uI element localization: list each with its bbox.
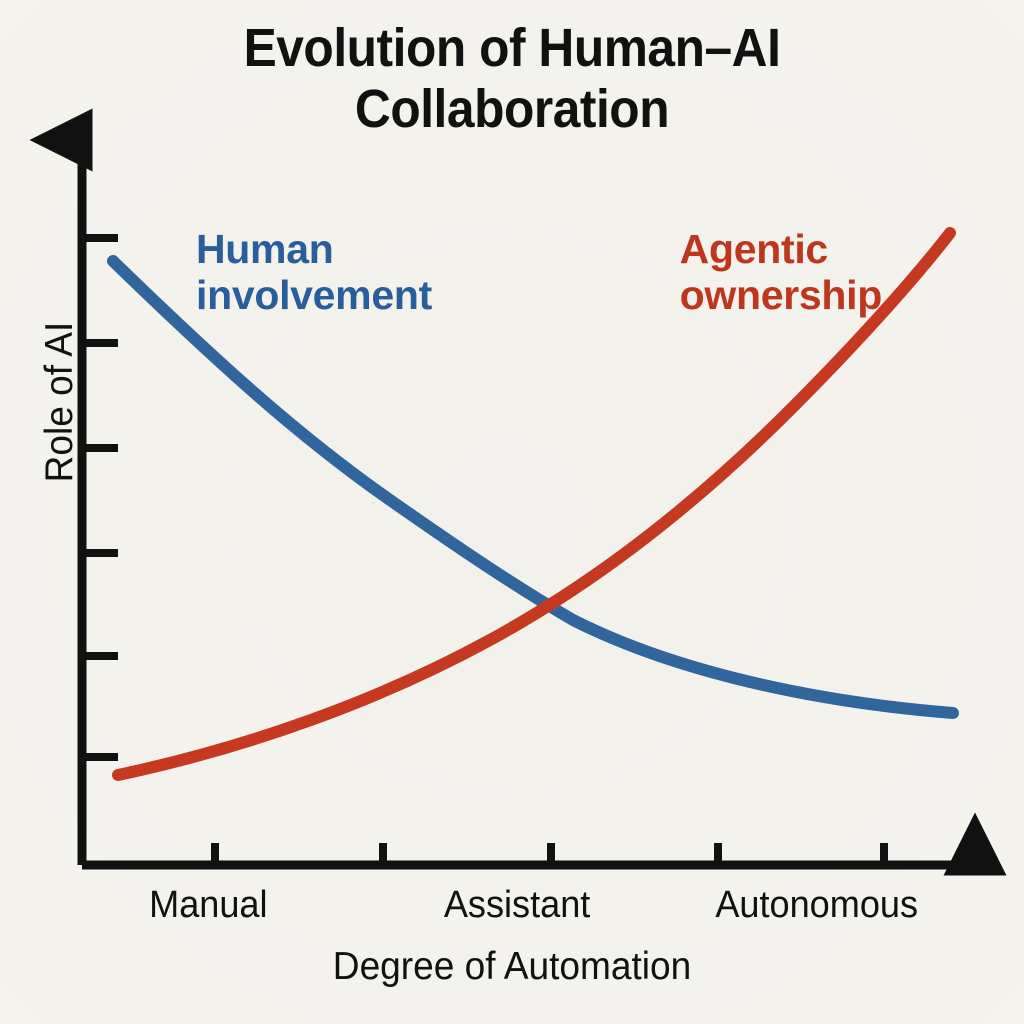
x-tick-label-manual: Manual [149,884,267,927]
x-tick-label-assistant: Assistant [444,884,590,927]
x-axis-label: Degree of Automation [26,945,999,989]
y-axis-ticks [82,238,118,757]
title-block: Evolution of Human–AI Collaboration [112,18,912,140]
series-label-human-involvement: Human involvement [196,227,432,319]
y-axis-label: Role of AI [38,288,82,516]
chart-figure: Evolution of Human–AI Collaboration Huma… [0,0,1024,1024]
series-line-human-involvement [113,261,953,713]
chart-title: Evolution of Human–AI Collaboration [144,18,880,140]
x-tick-label-autonomous: Autonomous [715,884,918,927]
chart-plot-area [0,0,1024,1024]
series-label-agentic-ownership: Agentic ownership [680,227,882,319]
